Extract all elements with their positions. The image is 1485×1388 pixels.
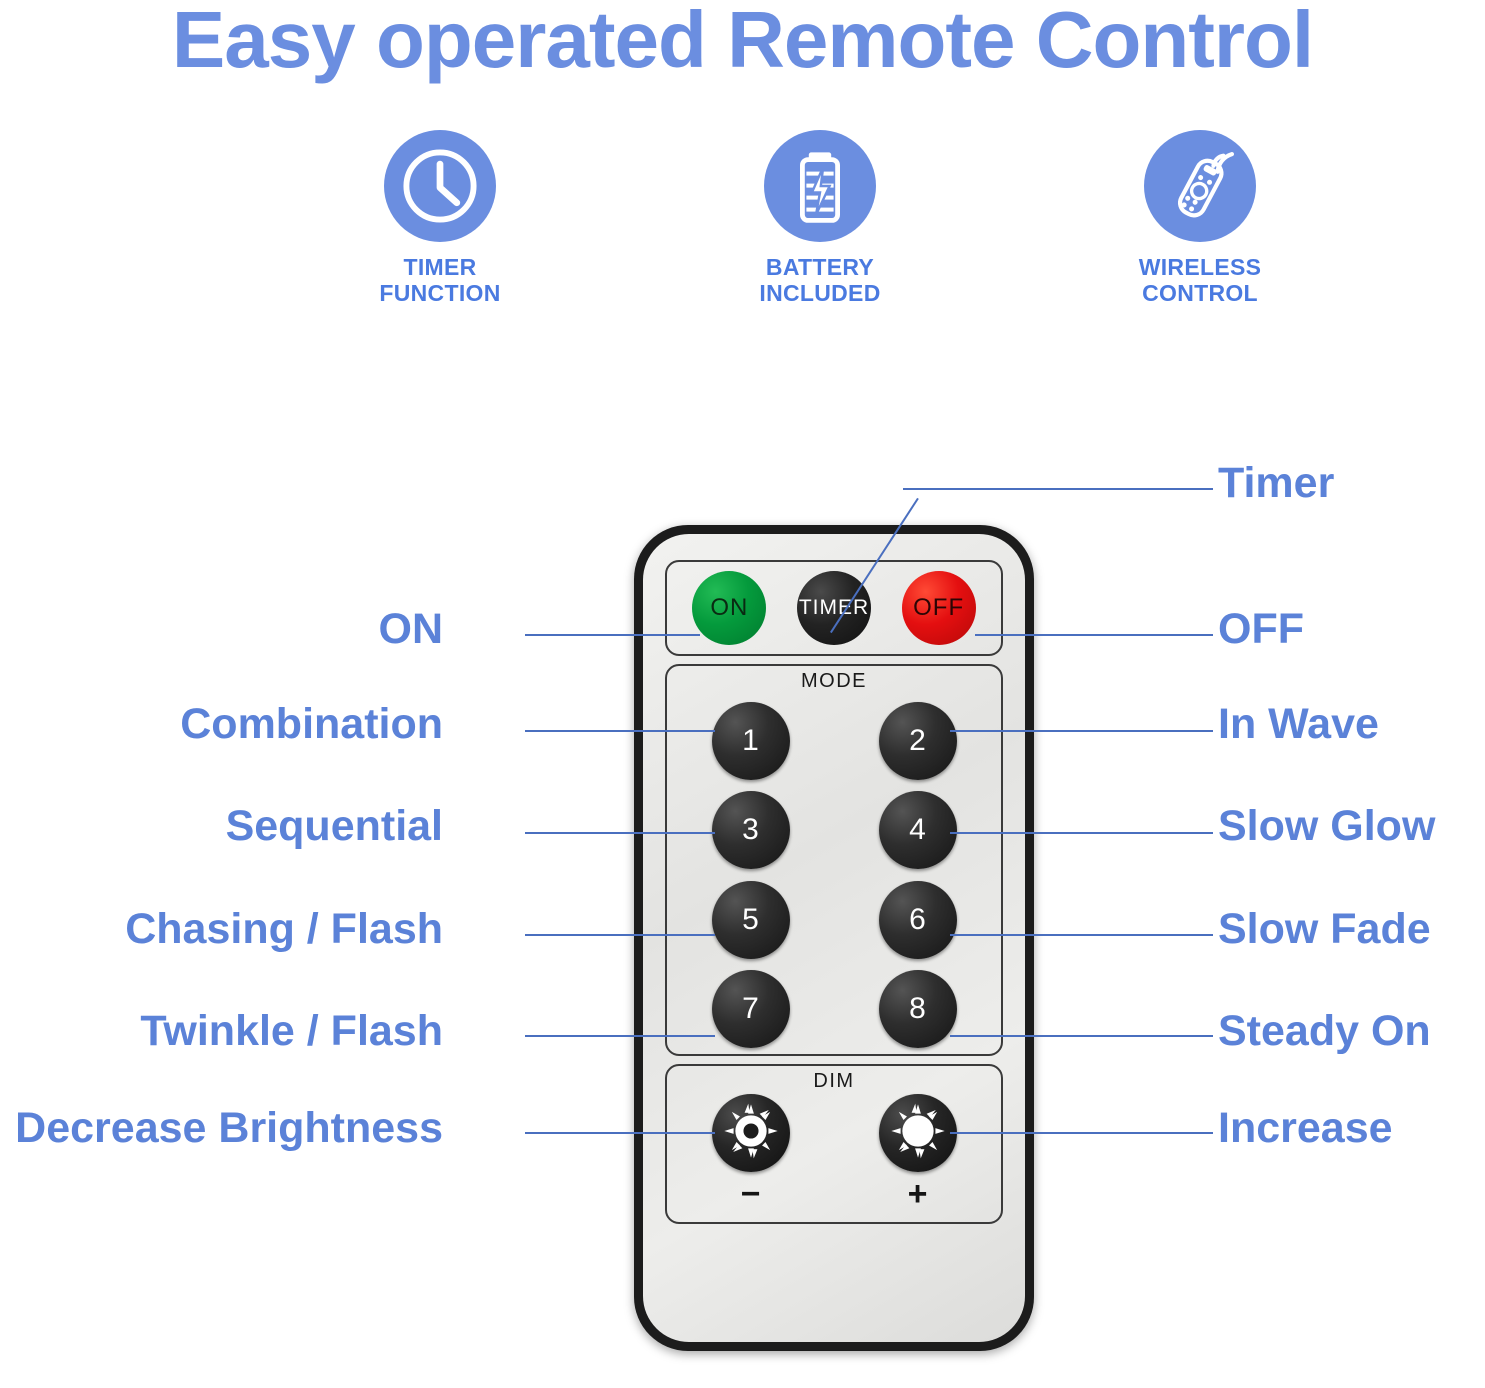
mode-panel: MODE 1 2 3 4 5 6 7 8	[665, 664, 1003, 1056]
feature-label: TIMER FUNCTION	[379, 254, 500, 307]
mode-caption: MODE	[667, 670, 1001, 693]
dim-increase-button[interactable]	[879, 1094, 957, 1172]
dim-increase-sign: +	[908, 1177, 928, 1211]
mode-button-4[interactable]: 4	[879, 791, 957, 869]
callout-combination: Combination	[180, 703, 443, 746]
dim-decrease-group: −	[712, 1094, 790, 1222]
mode-button-8[interactable]: 8	[879, 970, 957, 1048]
mode-button-5[interactable]: 5	[712, 881, 790, 959]
on-button[interactable]: ON	[692, 571, 766, 645]
feature-timer-function: TIMER FUNCTION	[300, 130, 580, 307]
callout-increase: Increase	[1218, 1107, 1393, 1150]
callout-in-wave: In Wave	[1218, 703, 1379, 746]
callout-decrease-brightness: Decrease Brightness	[15, 1107, 443, 1150]
feature-label: BATTERY INCLUDED	[759, 254, 880, 307]
sun-dim-icon	[722, 1102, 780, 1165]
mode-button-3[interactable]: 3	[712, 791, 790, 869]
callout-slow-glow: Slow Glow	[1218, 805, 1435, 848]
mode-button-1[interactable]: 1	[712, 702, 790, 780]
dim-caption: DIM	[667, 1070, 1001, 1093]
callout-on: ON	[379, 608, 444, 651]
callout-slow-fade: Slow Fade	[1218, 908, 1431, 951]
timer-button[interactable]: TIMER	[797, 571, 871, 645]
dim-increase-group: +	[879, 1094, 957, 1222]
callout-off: OFF	[1218, 608, 1304, 651]
feature-wireless-control: WIRELESS CONTROL	[1060, 130, 1340, 307]
dim-panel: DIM	[665, 1064, 1003, 1224]
leader-steady-on	[950, 1035, 1213, 1037]
remote-face: ON TIMER OFF MODE 1 2 3 4 5 6 7 8 DIM	[643, 534, 1025, 1342]
clock-icon	[384, 130, 496, 242]
mode-button-6[interactable]: 6	[879, 881, 957, 959]
callout-sequential: Sequential	[226, 805, 443, 848]
feature-battery-included: BATTERY INCLUDED	[680, 130, 960, 307]
power-panel: ON TIMER OFF	[665, 560, 1003, 656]
dim-decrease-button[interactable]	[712, 1094, 790, 1172]
leader-decrease-brightness	[525, 1132, 715, 1134]
feature-label: WIRELESS CONTROL	[1139, 254, 1262, 307]
callout-steady-on: Steady On	[1218, 1010, 1431, 1053]
mode-button-7[interactable]: 7	[712, 970, 790, 1048]
callout-twinkle-flash: Twinkle / Flash	[140, 1010, 443, 1053]
page-title: Easy operated Remote Control	[0, 0, 1485, 86]
leader-twinkle-flash	[525, 1035, 715, 1037]
dim-decrease-sign: −	[741, 1177, 761, 1211]
sun-bright-icon	[889, 1102, 947, 1165]
battery-icon	[764, 130, 876, 242]
leader-sequential	[525, 832, 715, 834]
leader-slow-glow	[950, 832, 1213, 834]
leader-off	[975, 634, 1213, 636]
leader-in-wave	[950, 730, 1213, 732]
leader-slow-fade	[950, 934, 1213, 936]
remote-control: ON TIMER OFF MODE 1 2 3 4 5 6 7 8 DIM	[634, 525, 1034, 1351]
leader-increase	[950, 1132, 1213, 1134]
callout-chasing-flash: Chasing / Flash	[125, 908, 443, 951]
leader-combination	[525, 730, 715, 732]
leader-on	[525, 634, 700, 636]
mode-button-2[interactable]: 2	[879, 702, 957, 780]
remote-signal-icon	[1144, 130, 1256, 242]
leader-timer	[903, 488, 1213, 490]
off-button[interactable]: OFF	[902, 571, 976, 645]
callout-timer: Timer	[1218, 462, 1334, 505]
feature-badges: TIMER FUNCTION BATTERY INCLUDED	[300, 130, 1340, 307]
leader-chasing-flash	[525, 934, 715, 936]
